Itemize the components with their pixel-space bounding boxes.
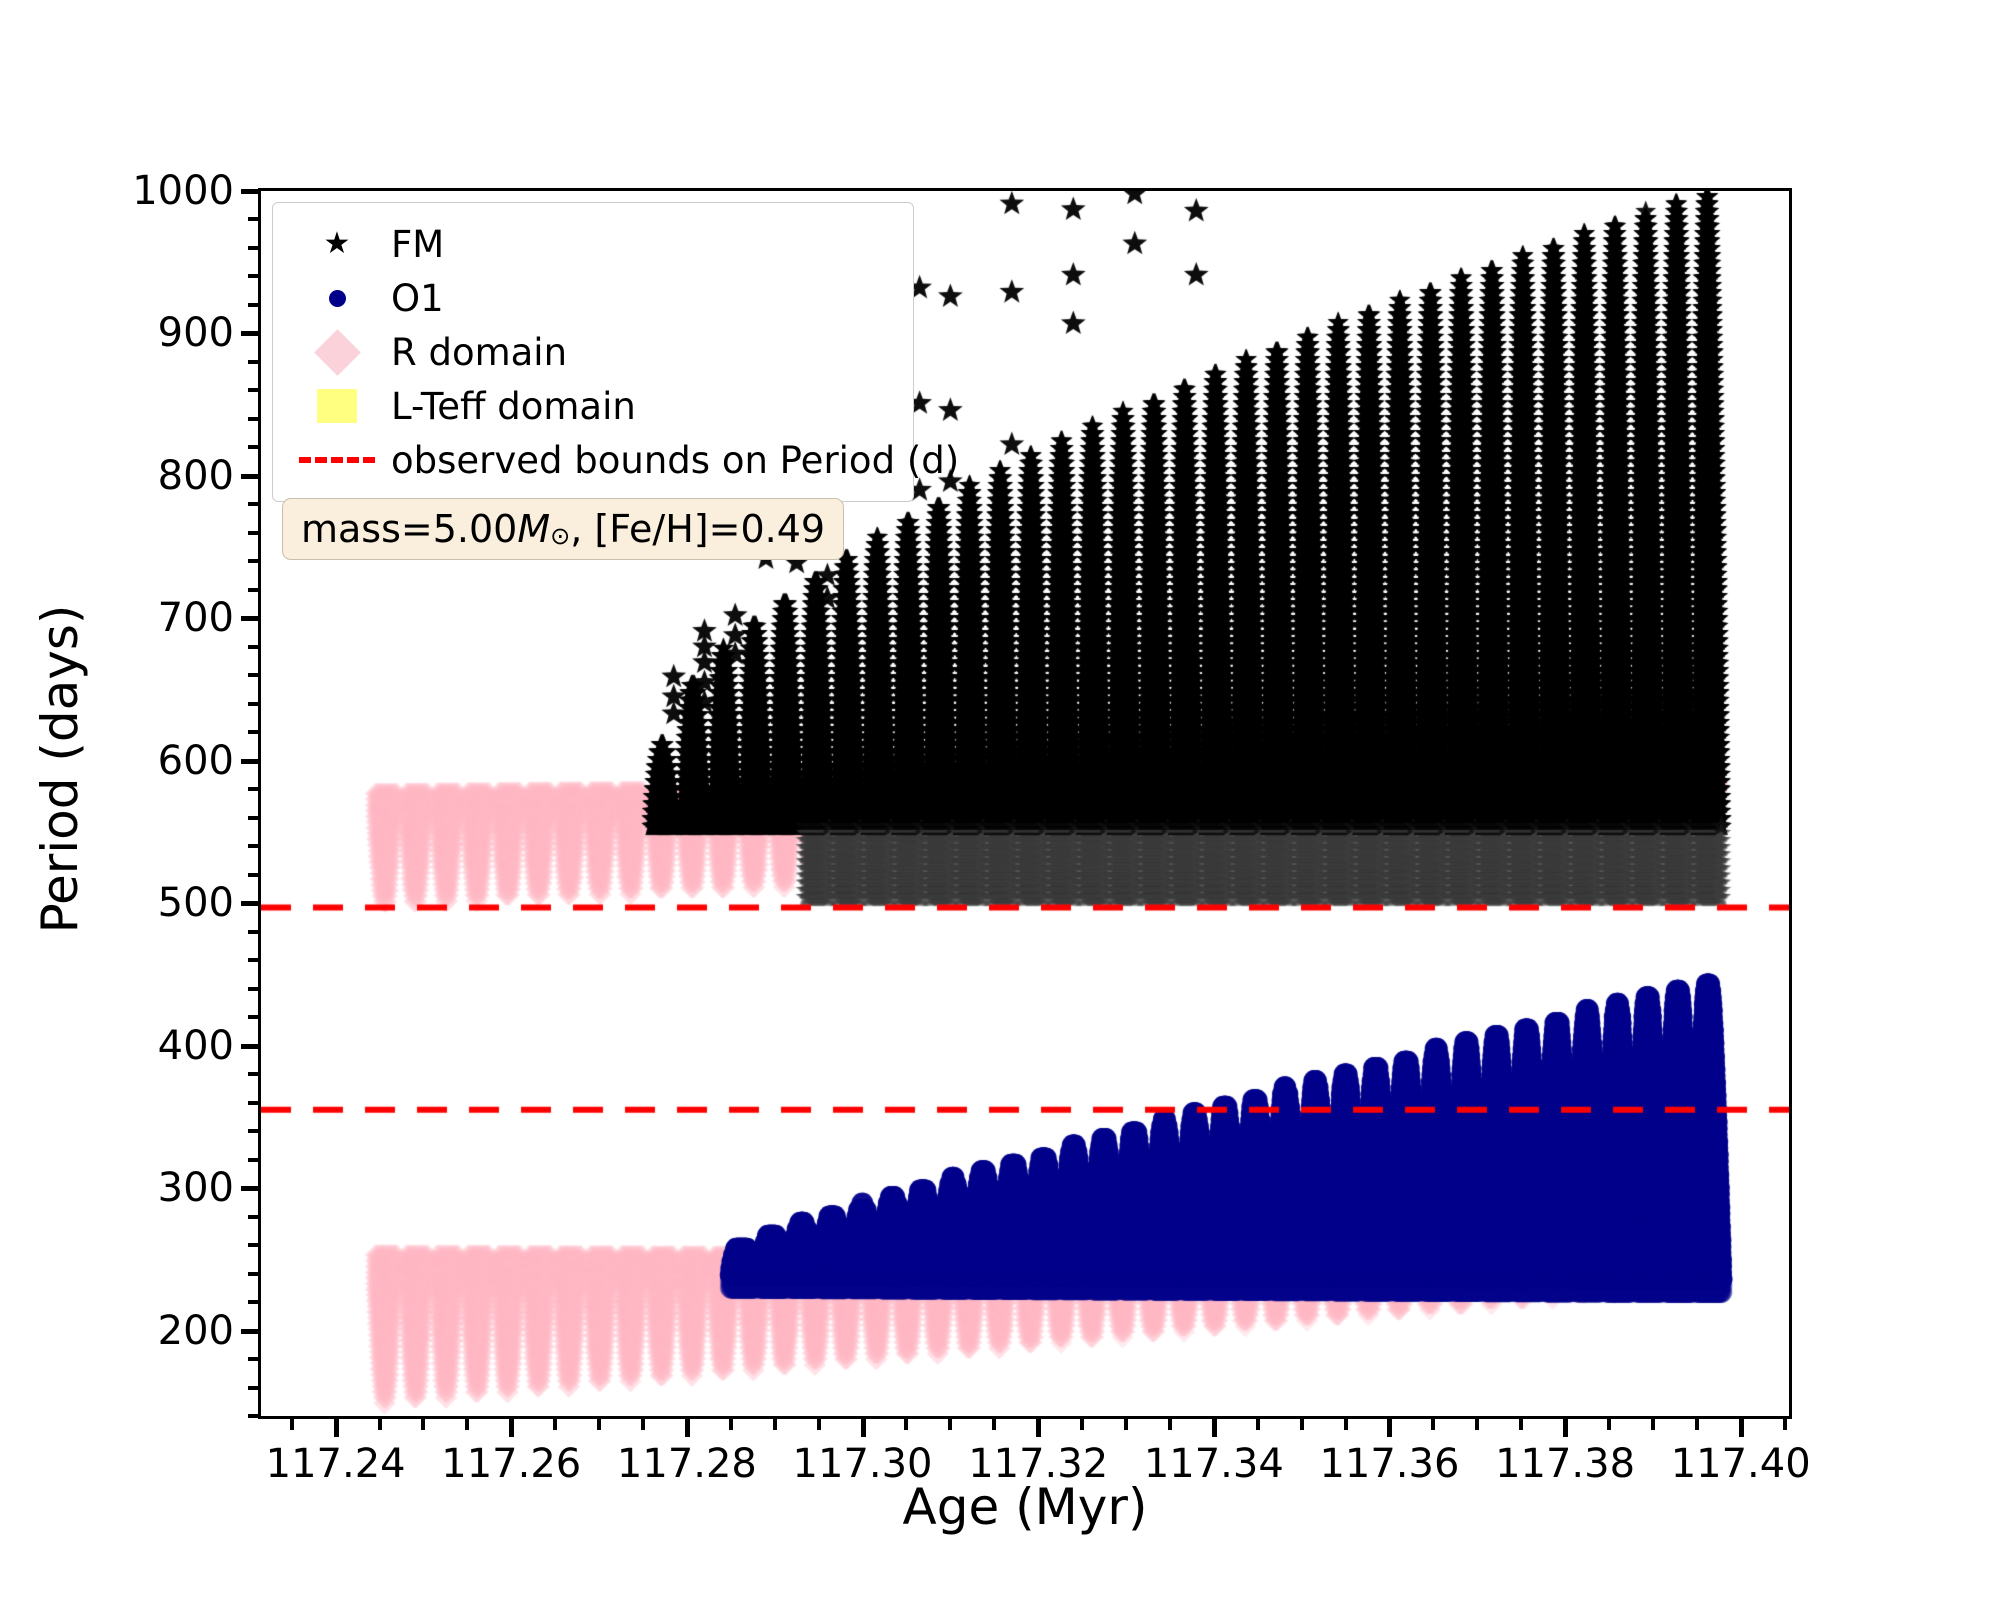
y-tick-minor <box>248 1158 258 1162</box>
diamond-icon <box>283 336 391 369</box>
x-tick-minor <box>948 1419 952 1430</box>
annotation-mass-unit: M <box>517 507 550 551</box>
y-tick-minor <box>248 1272 258 1276</box>
y-tick-minor <box>248 274 258 278</box>
y-axis-title: Period (days) <box>31 149 89 1389</box>
y-tick-label: 700 <box>158 595 234 641</box>
x-tick-minor <box>1256 1419 1260 1430</box>
x-tick-minor <box>729 1419 733 1430</box>
y-tick-label: 600 <box>158 738 234 784</box>
y-tick-minor <box>248 1243 258 1247</box>
x-tick-minor <box>1651 1419 1655 1430</box>
y-tick-minor <box>248 930 258 934</box>
y-tick-major <box>241 616 258 621</box>
x-tick-minor <box>1168 1419 1172 1430</box>
legend-label-fm: FM <box>391 223 444 266</box>
circle-icon <box>283 290 391 307</box>
x-tick-minor <box>597 1419 601 1430</box>
legend-item-fm[interactable]: ★ FM <box>273 217 913 271</box>
y-tick-minor <box>248 417 258 421</box>
y-tick-minor <box>248 702 258 706</box>
y-tick-minor <box>248 873 258 877</box>
annotation-separator: , [Fe/H]= <box>570 507 740 551</box>
y-tick-minor <box>248 673 258 677</box>
y-tick-minor <box>248 388 258 392</box>
x-tick-minor <box>1519 1419 1523 1430</box>
y-tick-label: 500 <box>158 880 234 926</box>
legend-item-observed-bounds[interactable]: observed bounds on Period (d) <box>273 433 913 487</box>
x-tick-major <box>509 1419 514 1437</box>
y-tick-minor <box>248 303 258 307</box>
y-tick-minor <box>248 958 258 962</box>
x-tick-major <box>1036 1419 1041 1437</box>
x-tick-major <box>1212 1419 1217 1437</box>
x-tick-minor <box>641 1419 645 1430</box>
y-tick-minor <box>248 1101 258 1105</box>
y-tick-label: 1000 <box>132 168 234 214</box>
y-tick-major <box>241 474 258 479</box>
x-tick-minor <box>1783 1419 1787 1430</box>
y-tick-label: 800 <box>158 453 234 499</box>
x-tick-major <box>1387 1419 1392 1437</box>
y-tick-minor <box>248 217 258 221</box>
y-tick-minor <box>248 1015 258 1019</box>
y-tick-minor <box>248 1129 258 1133</box>
x-tick-minor <box>1695 1419 1699 1430</box>
x-tick-minor <box>1607 1419 1611 1430</box>
y-tick-minor <box>248 502 258 506</box>
y-tick-major <box>241 901 258 906</box>
legend-label-o1: O1 <box>391 277 444 320</box>
figure-root: 2003004005006007008009001000 117.24117.2… <box>0 0 2000 1600</box>
legend-label-r-domain: R domain <box>391 331 567 374</box>
dashed-line-icon <box>283 457 391 463</box>
x-tick-minor <box>773 1419 777 1430</box>
y-tick-major <box>241 1186 258 1191</box>
y-tick-minor <box>248 1386 258 1390</box>
x-tick-major <box>685 1419 690 1437</box>
annotation-mass-prefix: mass= <box>301 507 433 551</box>
y-tick-minor <box>248 1357 258 1361</box>
y-tick-label: 200 <box>158 1308 234 1354</box>
legend-item-r-domain[interactable]: R domain <box>273 325 913 379</box>
y-tick-major <box>241 1044 258 1049</box>
annotation-feh-value: 0.49 <box>740 507 825 551</box>
x-tick-major <box>861 1419 866 1437</box>
y-tick-minor <box>248 1215 258 1219</box>
y-tick-minor <box>248 559 258 563</box>
x-tick-major <box>1563 1419 1568 1437</box>
star-icon: ★ <box>283 229 391 259</box>
y-tick-minor <box>248 1300 258 1304</box>
legend-label-l-teff-domain: L-Teff domain <box>391 385 636 428</box>
x-tick-minor <box>1431 1419 1435 1430</box>
x-tick-minor <box>553 1419 557 1430</box>
x-tick-minor <box>992 1419 996 1430</box>
y-tick-minor <box>248 531 258 535</box>
x-tick-major <box>1739 1419 1744 1437</box>
x-tick-minor <box>465 1419 469 1430</box>
y-tick-minor <box>248 588 258 592</box>
x-tick-minor <box>1475 1419 1479 1430</box>
annotation-mass-unit-sub: ⊙ <box>550 522 570 550</box>
y-tick-minor <box>248 730 258 734</box>
square-icon <box>283 389 391 423</box>
y-tick-minor <box>248 645 258 649</box>
x-tick-minor <box>1080 1419 1084 1430</box>
x-tick-layer: 117.24117.26117.28117.30117.32117.34117.… <box>258 1419 1792 1439</box>
legend-item-o1[interactable]: O1 <box>273 271 913 325</box>
y-tick-minor <box>248 987 258 991</box>
y-tick-major <box>241 189 258 194</box>
x-tick-minor <box>904 1419 908 1430</box>
legend[interactable]: ★ FM O1 R domain L-Teff domain <box>272 202 914 502</box>
x-tick-minor <box>817 1419 821 1430</box>
y-tick-minor <box>248 246 258 250</box>
y-tick-minor <box>248 816 258 820</box>
y-tick-major <box>241 759 258 764</box>
y-tick-minor <box>248 787 258 791</box>
y-tick-major <box>241 331 258 336</box>
y-tick-minor <box>248 844 258 848</box>
legend-item-l-teff-domain[interactable]: L-Teff domain <box>273 379 913 433</box>
y-tick-minor <box>248 1414 258 1418</box>
x-tick-major <box>334 1419 339 1437</box>
x-tick-minor <box>290 1419 294 1430</box>
x-axis-title: Age (Myr) <box>258 1478 1792 1536</box>
x-tick-minor <box>1300 1419 1304 1430</box>
x-tick-minor <box>421 1419 425 1430</box>
y-tick-label: 300 <box>158 1165 234 1211</box>
annotation-mass-value: 5.00 <box>433 507 518 551</box>
y-tick-minor <box>248 445 258 449</box>
y-tick-minor <box>248 1072 258 1076</box>
y-tick-label: 400 <box>158 1023 234 1069</box>
y-tick-label: 900 <box>158 310 234 356</box>
x-tick-minor <box>1124 1419 1128 1430</box>
model-parameters-annotation: mass=5.00M⊙, [Fe/H]=0.49 <box>282 498 844 560</box>
x-tick-minor <box>1344 1419 1348 1430</box>
x-tick-minor <box>378 1419 382 1430</box>
y-tick-major <box>241 1329 258 1334</box>
legend-label-observed-bounds: observed bounds on Period (d) <box>391 439 959 482</box>
y-tick-minor <box>248 360 258 364</box>
